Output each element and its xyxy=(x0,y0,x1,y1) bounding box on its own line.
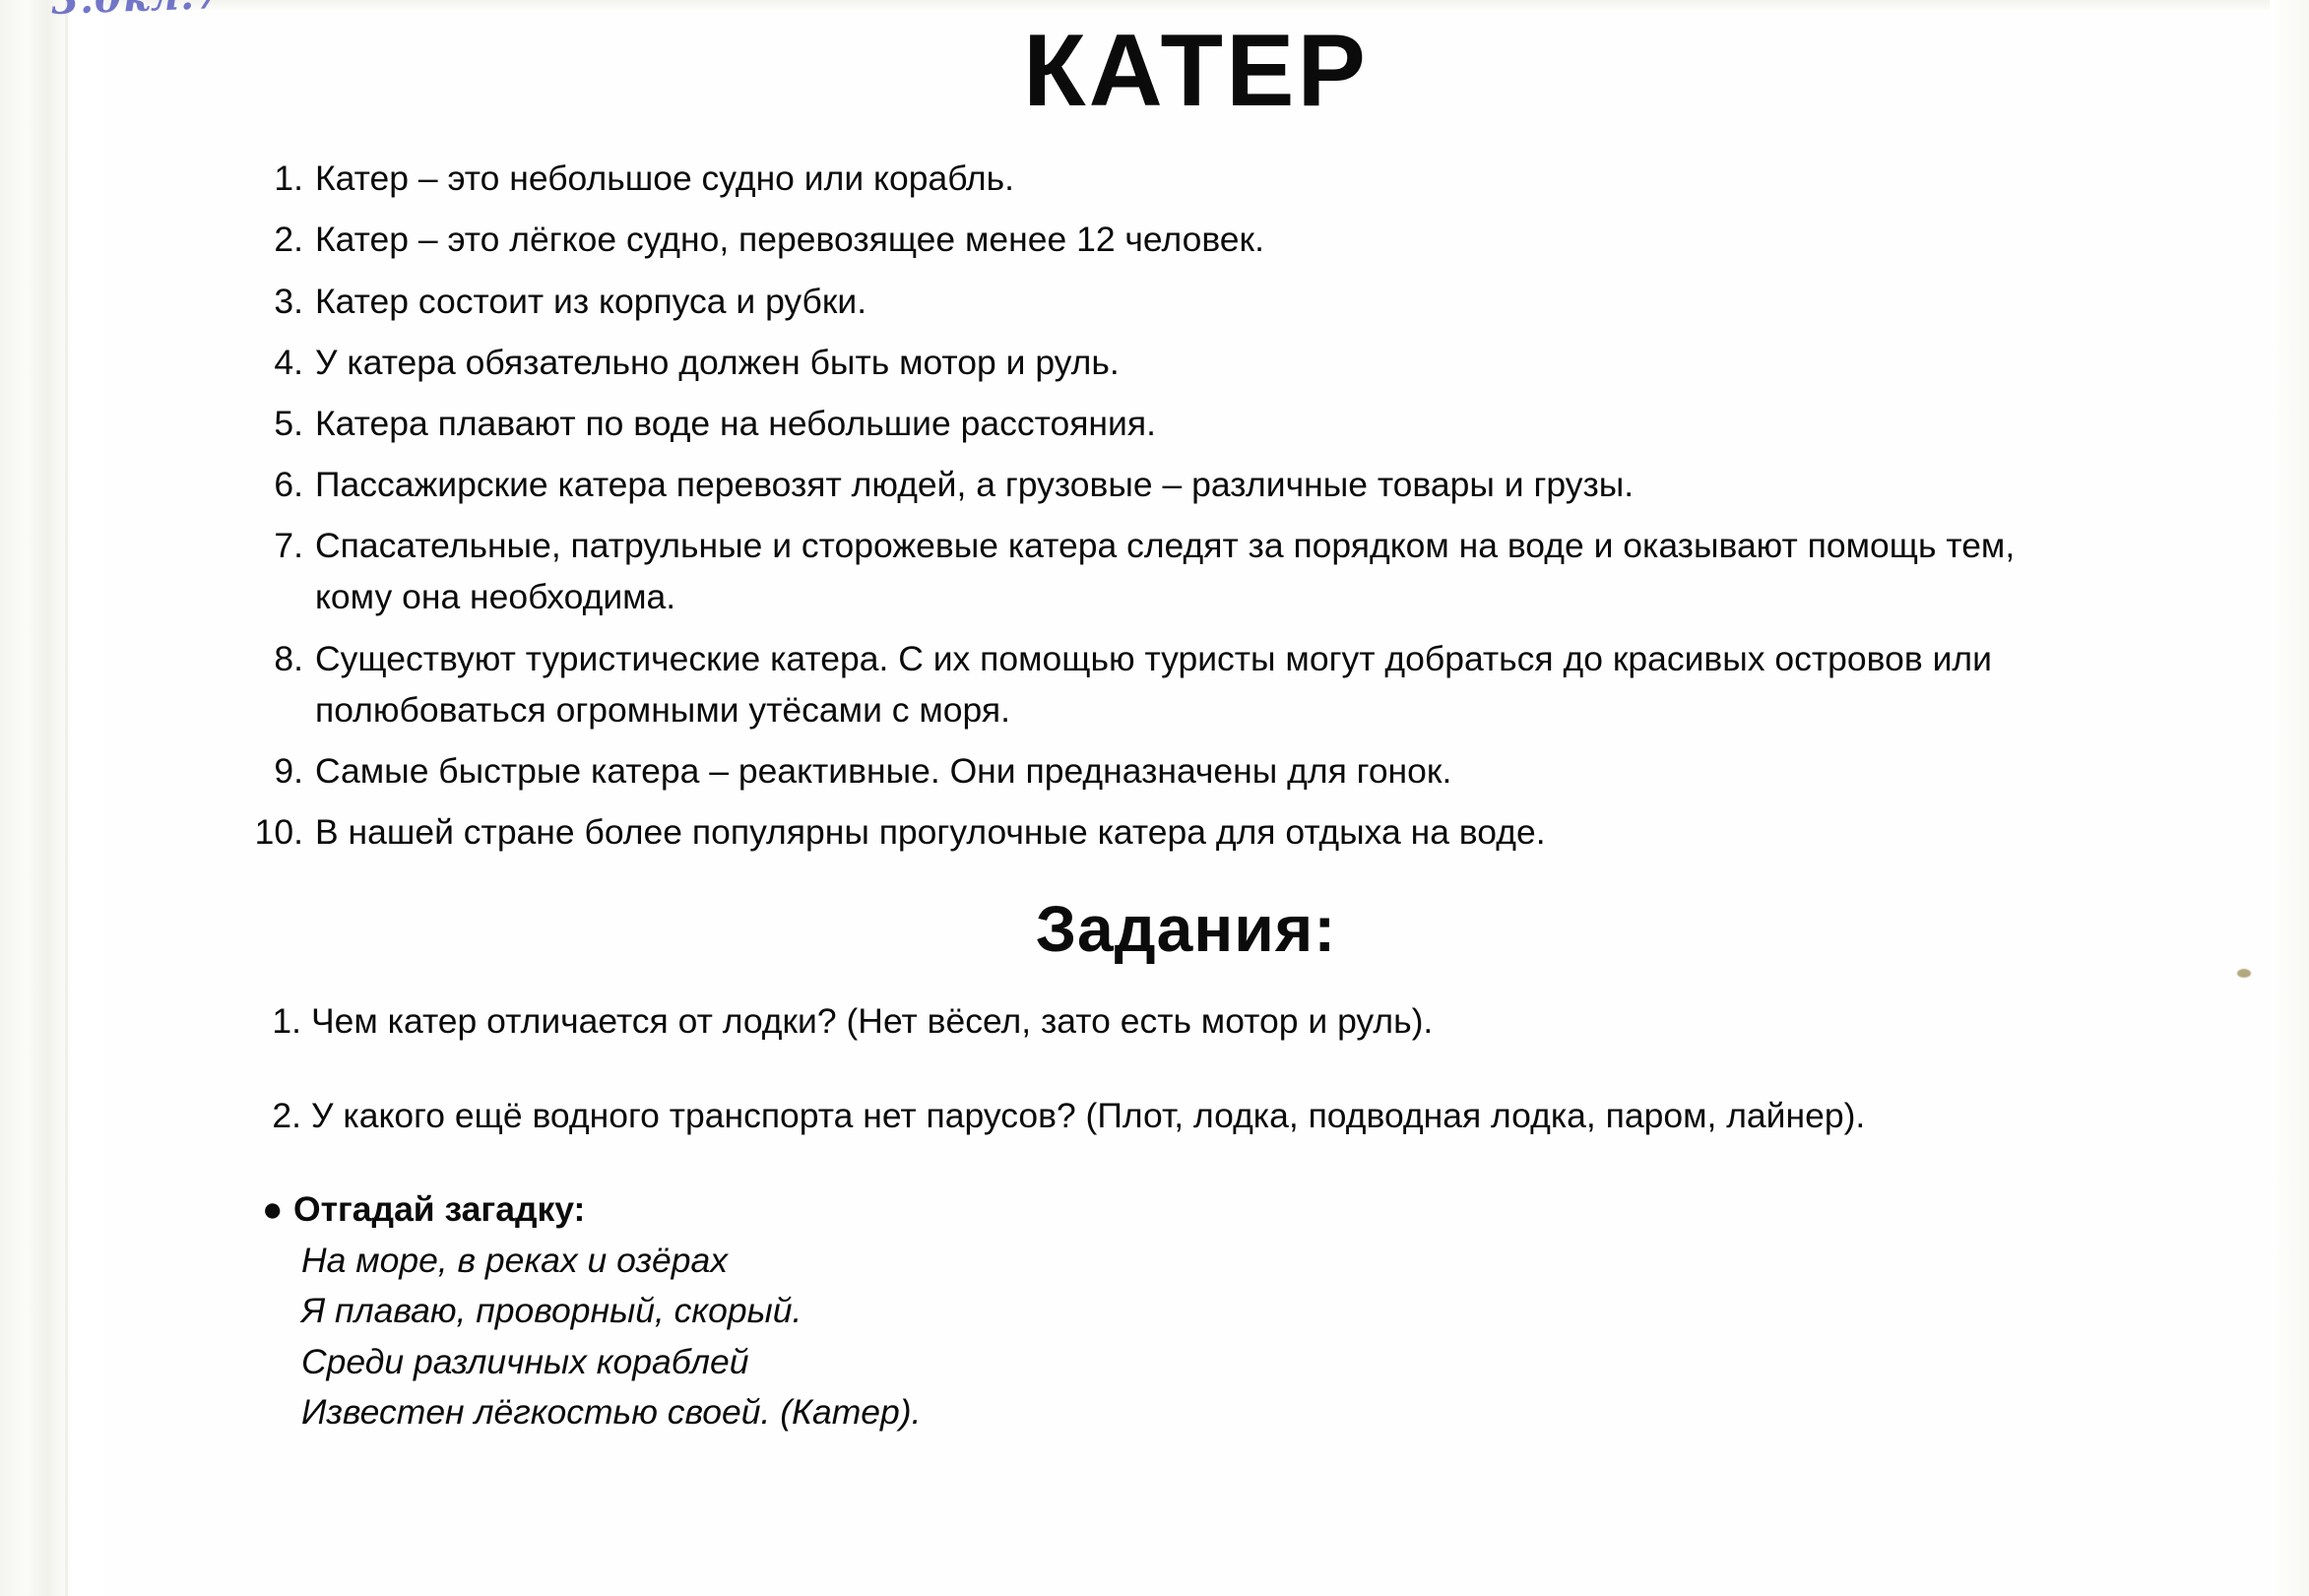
list-item-text: Пассажирские катера перевозят людей, а г… xyxy=(315,465,1634,504)
list-item-text: В нашей стране более популярны прогулочн… xyxy=(315,812,1546,852)
scanned-document-page: 3.0кл.7 КАТЕР 1.Катер – это небольшое су… xyxy=(0,0,2309,1596)
tasks-heading: Задания: xyxy=(32,891,2309,966)
list-item-text: Чем катер отличается от лодки? (Нет вёсе… xyxy=(311,1001,1433,1041)
document-content: КАТЕР 1.Катер – это небольшое судно или … xyxy=(0,0,2309,1437)
bullet-icon: ● xyxy=(262,1185,283,1235)
list-item-text: У какого ещё водного транспорта нет пару… xyxy=(311,1096,1865,1135)
list-item-number: 8. xyxy=(213,633,303,684)
list-item-text: Катер – это небольшое судно или корабль. xyxy=(315,159,1014,198)
list-item: 1.Чем катер отличается от лодки? (Нет вё… xyxy=(258,995,2078,1047)
list-item: 5.Катера плавают по воде на небольшие ра… xyxy=(258,398,2078,449)
list-item: 1.Катер – это небольшое судно или корабл… xyxy=(258,153,2078,204)
list-item: 10.В нашей стране более популярны прогул… xyxy=(258,806,2078,858)
riddle-heading: ●Отгадай загадку: xyxy=(258,1185,2309,1235)
list-item-number: 2. xyxy=(213,214,303,265)
list-item-number: 5. xyxy=(213,398,303,449)
list-item-number: 7. xyxy=(213,520,303,571)
list-item: 9.Самые быстрые катера – реактивные. Они… xyxy=(258,745,2078,797)
tasks-section: Задания: 1.Чем катер отличается от лодки… xyxy=(0,891,2309,1141)
facts-list: 1.Катер – это небольшое судно или корабл… xyxy=(0,153,2309,858)
list-item-text: Самые быстрые катера – реактивные. Они п… xyxy=(315,751,1451,791)
riddle-line: Я плаваю, проворный, скорый. xyxy=(301,1286,2309,1336)
riddle-section: ●Отгадай загадку: На море, в реках и озё… xyxy=(0,1185,2309,1437)
list-item-number: 2. xyxy=(215,1090,301,1141)
riddle-line: Среди различных кораблей xyxy=(301,1337,2309,1387)
riddle-heading-text: Отгадай загадку: xyxy=(293,1189,585,1229)
riddle-lines: На море, в реках и озёрах Я плаваю, пров… xyxy=(258,1236,2309,1436)
list-item-number: 6. xyxy=(213,459,303,510)
list-item: 7.Спасательные, патрульные и сторожевые … xyxy=(258,520,2078,622)
list-item-number: 1. xyxy=(213,153,303,204)
list-item: 2.Катер – это лёгкое судно, перевозящее … xyxy=(258,214,2078,265)
list-item: 6.Пассажирские катера перевозят людей, а… xyxy=(258,459,2078,510)
list-item-text: Спасательные, патрульные и сторожевые ка… xyxy=(315,526,2015,616)
list-item-text: У катера обязательно должен быть мотор и… xyxy=(315,343,1120,382)
list-item-number: 1. xyxy=(215,995,301,1047)
list-item: 8.Существуют туристические катера. С их … xyxy=(258,633,2078,735)
list-item: 2.У какого ещё водного транспорта нет па… xyxy=(258,1090,2078,1141)
list-item: 4.У катера обязательно должен быть мотор… xyxy=(258,337,2078,388)
tasks-list: 1.Чем катер отличается от лодки? (Нет вё… xyxy=(0,995,2309,1141)
page-title: КАТЕР xyxy=(41,0,2309,125)
list-item-number: 10. xyxy=(213,806,303,858)
list-item-number: 9. xyxy=(213,745,303,797)
riddle-line: На море, в реках и озёрах xyxy=(301,1236,2309,1286)
list-item-number: 4. xyxy=(213,337,303,388)
list-item-text: Катер состоит из корпуса и рубки. xyxy=(315,282,866,321)
list-item-number: 3. xyxy=(213,276,303,327)
list-item-text: Катер – это лёгкое судно, перевозящее ме… xyxy=(315,220,1264,259)
list-item: 3.Катер состоит из корпуса и рубки. xyxy=(258,276,2078,327)
riddle-line: Известен лёгкостью своей. (Катер). xyxy=(301,1387,2309,1437)
list-item-text: Катера плавают по воде на небольшие расс… xyxy=(315,404,1156,443)
list-item-text: Существуют туристические катера. С их по… xyxy=(315,639,1992,730)
